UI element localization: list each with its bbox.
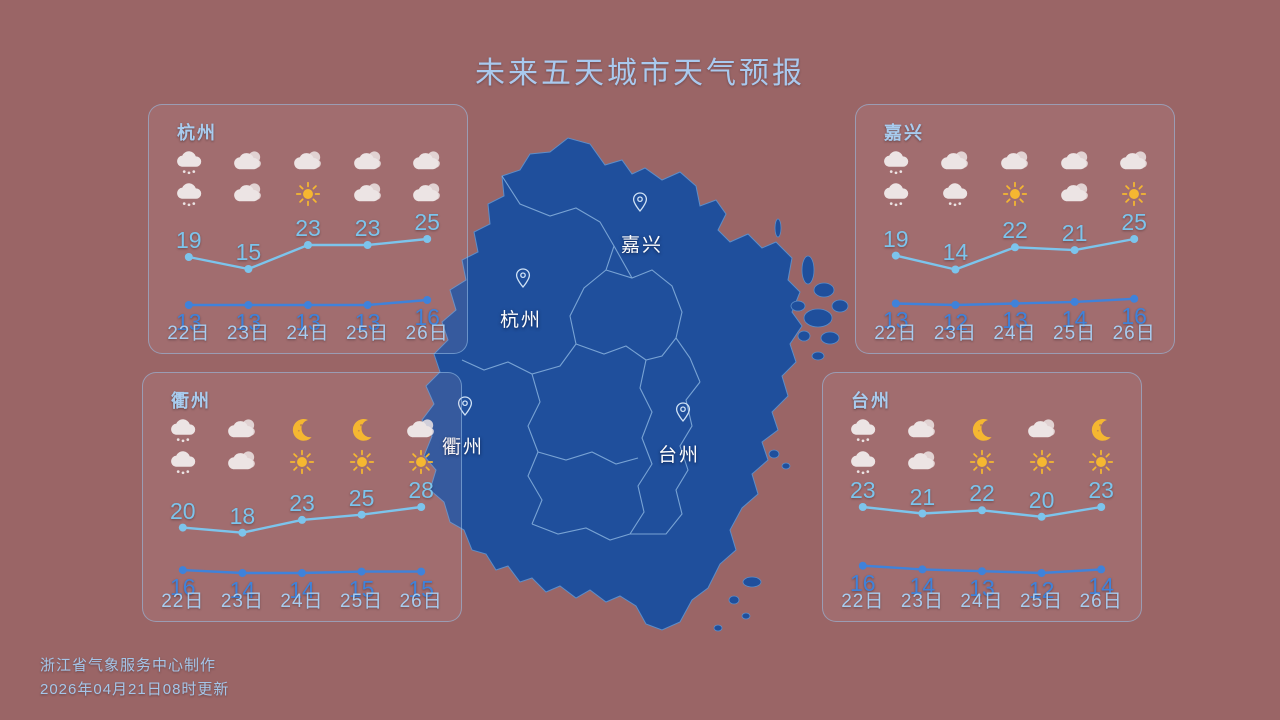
weather-icon-stack [219,147,279,225]
high-temperature: 23 [338,215,398,242]
page-title: 未来五天城市天气预报 [0,48,1280,92]
date-label: 25日 [1012,586,1072,613]
high-temperature: 20 [1012,487,1072,514]
high-temperature: 28 [391,477,451,504]
high-temperature: 18 [213,503,273,530]
zhejiang-map: 嘉兴杭州衢州台州 [400,130,870,660]
high-temperature: 21 [893,484,953,511]
footer-line-1: 浙江省气象服务中心制作 [40,654,229,678]
rain-icon [880,179,912,209]
forecast-panel-hangzhou[interactable]: 杭州 19131513231323132516 22日23日24日25日26日 [148,104,468,354]
forecast-day-column[interactable]: 2314 [272,415,332,615]
weather-icon-stack [159,147,219,225]
date-label: 26日 [391,586,451,613]
high-temperature: 25 [1104,209,1164,236]
panel-city-name: 杭州 [177,119,217,145]
forecast-panel-quzhou[interactable]: 衢州 20161814231425152815 22日23日24日25日26日 [142,372,462,622]
location-pin-icon [675,402,691,422]
high-temperature: 20 [153,498,213,525]
cloudy-icon [906,447,938,477]
location-pin-icon [632,192,648,212]
panel-city-name: 衢州 [171,387,211,413]
sun-icon [966,447,998,477]
forecast-day-column[interactable]: 2213 [952,415,1012,615]
rain-icon [173,179,205,209]
weather-icon-stack [893,415,953,493]
sun-icon [999,179,1031,209]
forecast-day-column[interactable]: 2213 [985,147,1045,347]
forecast-day-column[interactable]: 1412 [926,147,986,347]
map-label-hangzhou: 杭州 [500,305,542,332]
date-label: 22日 [153,586,213,613]
date-axis: 22日23日24日25日26日 [159,318,457,345]
forecast-columns: 19131412221321142516 [866,147,1164,347]
forecast-day-column[interactable]: 2815 [391,415,451,615]
forecast-day-column[interactable]: 2314 [1071,415,1131,615]
weather-icon-stack [272,415,332,493]
rain-icon [880,147,912,177]
high-temperature: 22 [952,480,1012,507]
date-label: 23日 [213,586,273,613]
forecast-day-column[interactable]: 1913 [866,147,926,347]
sun-icon [292,179,324,209]
date-label: 24日 [952,586,1012,613]
forecast-day-column[interactable]: 2114 [893,415,953,615]
date-label: 22日 [833,586,893,613]
forecast-day-column[interactable]: 2016 [153,415,213,615]
weather-forecast-poster: 未来五天城市天气预报 [0,0,1280,720]
high-temperature: 14 [926,239,986,266]
map-label-jiaxing: 嘉兴 [621,230,663,257]
cloudy-icon [1118,147,1150,177]
high-temperature: 15 [219,239,279,266]
forecast-day-column[interactable]: 2313 [338,147,398,347]
footer-line-2: 2026年04月21日08时更新 [40,678,229,702]
date-label: 25日 [1045,318,1105,345]
high-temperature: 19 [159,227,219,254]
date-axis: 22日23日24日25日26日 [833,586,1131,613]
moon-icon [966,415,998,445]
map-pin-taizhou[interactable] [675,402,691,422]
date-label: 26日 [1071,586,1131,613]
rain-icon [173,147,205,177]
panel-city-name: 嘉兴 [884,119,924,145]
date-label: 26日 [397,318,457,345]
date-label: 24日 [272,586,332,613]
forecast-panel-taizhou[interactable]: 台州 23162114221320122314 22日23日24日25日26日 [822,372,1142,622]
rain-icon [847,447,879,477]
forecast-day-column[interactable]: 2515 [332,415,392,615]
cloudy-icon [906,415,938,445]
location-pin-icon [515,268,531,288]
panel-city-name: 台州 [851,387,891,413]
weather-icon-stack [338,147,398,225]
high-temperature: 25 [397,209,457,236]
moon-icon [346,415,378,445]
weather-icon-stack [278,147,338,225]
forecast-day-column[interactable]: 2114 [1045,147,1105,347]
high-temperature: 19 [866,226,926,253]
cloudy-icon [999,147,1031,177]
forecast-day-column[interactable]: 1913 [159,147,219,347]
weather-icon-stack [1012,415,1072,493]
date-label: 23日 [926,318,986,345]
date-label: 25日 [332,586,392,613]
high-temperature: 22 [985,217,1045,244]
sun-icon [1085,447,1117,477]
weather-icon-stack [1045,147,1105,225]
date-label: 23日 [893,586,953,613]
weather-icon-stack [213,415,273,493]
forecast-columns: 23162114221320122314 [833,415,1131,615]
forecast-columns: 19131513231323132516 [159,147,457,347]
high-temperature: 23 [272,490,332,517]
forecast-day-column[interactable]: 2313 [278,147,338,347]
date-label: 24日 [278,318,338,345]
sun-icon [1026,447,1058,477]
cloudy-icon [411,147,443,177]
sun-icon [286,447,318,477]
weather-icon-stack [332,415,392,493]
cloudy-icon [1059,147,1091,177]
weather-icon-stack [926,147,986,225]
map-pin-jiaxing[interactable] [632,192,648,212]
high-temperature: 21 [1045,220,1105,247]
weather-icon-stack [985,147,1045,225]
forecast-day-column[interactable]: 2516 [397,147,457,347]
cloudy-icon [226,447,258,477]
cloudy-icon [939,147,971,177]
forecast-day-column[interactable]: 1814 [213,415,273,615]
sun-icon [405,447,437,477]
rain-icon [167,447,199,477]
map-label-taizhou: 台州 [658,440,700,467]
rain-icon [847,415,879,445]
date-axis: 22日23日24日25日26日 [866,318,1164,345]
cloudy-icon [1026,415,1058,445]
rain-icon [939,179,971,209]
footer-credits: 浙江省气象服务中心制作 2026年04月21日08时更新 [40,654,229,702]
sun-icon [346,447,378,477]
date-label: 22日 [866,318,926,345]
date-label: 25日 [338,318,398,345]
date-axis: 22日23日24日25日26日 [153,586,451,613]
cloudy-icon [226,415,258,445]
cloudy-icon [411,179,443,209]
high-temperature: 23 [278,215,338,242]
date-label: 24日 [985,318,1045,345]
forecast-day-column[interactable]: 1513 [219,147,279,347]
date-label: 23日 [219,318,279,345]
map-pin-hangzhou[interactable] [515,268,531,288]
date-label: 26日 [1104,318,1164,345]
forecast-day-column[interactable]: 2516 [1104,147,1164,347]
weather-icon-stack [153,415,213,493]
forecast-columns: 20161814231425152815 [153,415,451,615]
date-label: 22日 [159,318,219,345]
weather-icon-stack [866,147,926,225]
high-temperature: 25 [332,485,392,512]
cloudy-icon [405,415,437,445]
high-temperature: 23 [1071,477,1131,504]
forecast-panel-jiaxing[interactable]: 嘉兴 19131412221321142516 22日23日24日25日26日 [855,104,1175,354]
moon-icon [1085,415,1117,445]
sun-icon [1118,179,1150,209]
high-temperature: 23 [833,477,893,504]
cloudy-icon [1059,179,1091,209]
moon-icon [286,415,318,445]
cloudy-icon [352,147,384,177]
cloudy-icon [232,147,264,177]
forecast-day-column[interactable]: 2316 [833,415,893,615]
cloudy-icon [232,179,264,209]
rain-icon [167,415,199,445]
cloudy-icon [292,147,324,177]
map-province-shape [422,138,802,630]
cloudy-icon [352,179,384,209]
forecast-day-column[interactable]: 2012 [1012,415,1072,615]
